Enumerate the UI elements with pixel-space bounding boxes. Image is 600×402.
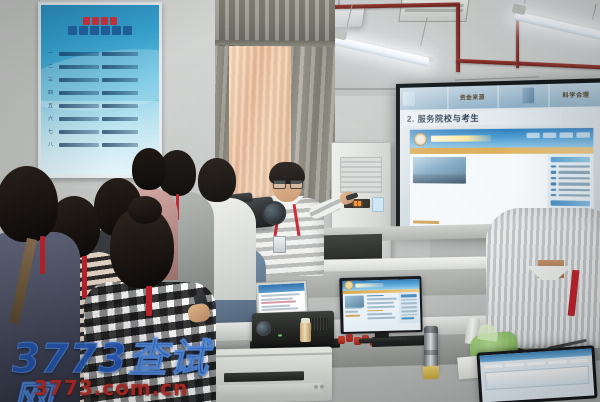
banner-tab: [498, 84, 549, 108]
right-panel-link: [550, 171, 590, 174]
right-panel-more-button: [550, 201, 590, 207]
banner-photo: [522, 88, 534, 104]
poster-title-line-2: [68, 26, 132, 35]
monitor-right-content: [485, 366, 590, 390]
monitor-left-column: [342, 293, 366, 325]
slide-heading: 2. 服务院校与考生: [404, 109, 562, 126]
right-panel-link: [550, 165, 590, 168]
monitor-screen: [342, 279, 420, 332]
poster-rule-item: 六: [48, 112, 152, 125]
banner-photo: [403, 91, 415, 105]
thermos-cap: [424, 326, 438, 333]
watermark-sub-text: 3773.com.cn: [34, 378, 188, 399]
poster-rule-item: 八: [48, 138, 152, 151]
hair-bun: [128, 196, 162, 224]
banner-tab: 科学合理: [550, 83, 600, 108]
website-left-column: [410, 154, 470, 228]
monitor-right-panel: [399, 291, 420, 323]
small-bottle: [300, 322, 311, 342]
monitor-center-column: [365, 292, 400, 324]
site-title-bar: [355, 282, 383, 287]
banner-tab: [400, 87, 447, 110]
presenter-badge: [273, 236, 286, 253]
curtain-valance: [215, 0, 335, 46]
slide-top-banner: 资金来源 科学合理: [400, 83, 600, 110]
poster-rule-item: 四: [48, 86, 152, 99]
right-panel-link: [550, 177, 590, 180]
right-panel-link: [550, 183, 590, 186]
poster-rule-item: 五: [48, 99, 152, 112]
website-hero-image: [413, 157, 467, 184]
poster-rule-item: 三: [48, 73, 152, 86]
printer-buttons: [314, 385, 324, 389]
photo-scene: 一 二 三 四 五 六 七 八 资金来源: [0, 0, 600, 402]
projector-lens-icon: [256, 321, 271, 336]
monitor-site-body: [342, 291, 420, 324]
right-panel-link: [550, 194, 590, 197]
monitor-hero-image: [344, 295, 363, 307]
desktop-projector: [252, 311, 334, 346]
poster-title-line-1: [83, 17, 117, 25]
ac-badge: [372, 197, 384, 212]
right-panel-title: [550, 157, 590, 162]
poster-rule-item: 一: [48, 47, 152, 60]
website-nav: [527, 132, 590, 138]
poster-title: [51, 13, 149, 39]
monitor-bezel: [339, 276, 422, 334]
watermark: 3773查试网 3773.com.cn: [12, 338, 242, 398]
site-logo-icon: [344, 281, 353, 290]
website-logo-icon: [414, 132, 427, 145]
yellow-box: [423, 366, 440, 380]
website-title: [431, 135, 491, 142]
glasses-icon: [273, 180, 301, 187]
website-header: [410, 128, 593, 148]
thermos-band: [424, 350, 438, 355]
poster-rule-list: 一 二 三 四 五 六 七 八: [48, 47, 152, 151]
monitor-right-screen: [480, 349, 595, 402]
right-panel-link: [550, 188, 590, 191]
laptop-screen: [258, 283, 305, 313]
desktop-monitor: [339, 276, 422, 334]
poster-rule-item: 二: [48, 60, 152, 73]
desktop-monitor-right: [476, 345, 597, 402]
poster-rule-item: 七: [48, 125, 152, 138]
banner-tab: 资金来源: [448, 85, 497, 109]
laptop-page-body: [259, 291, 306, 313]
projector-power-led: [278, 334, 282, 336]
